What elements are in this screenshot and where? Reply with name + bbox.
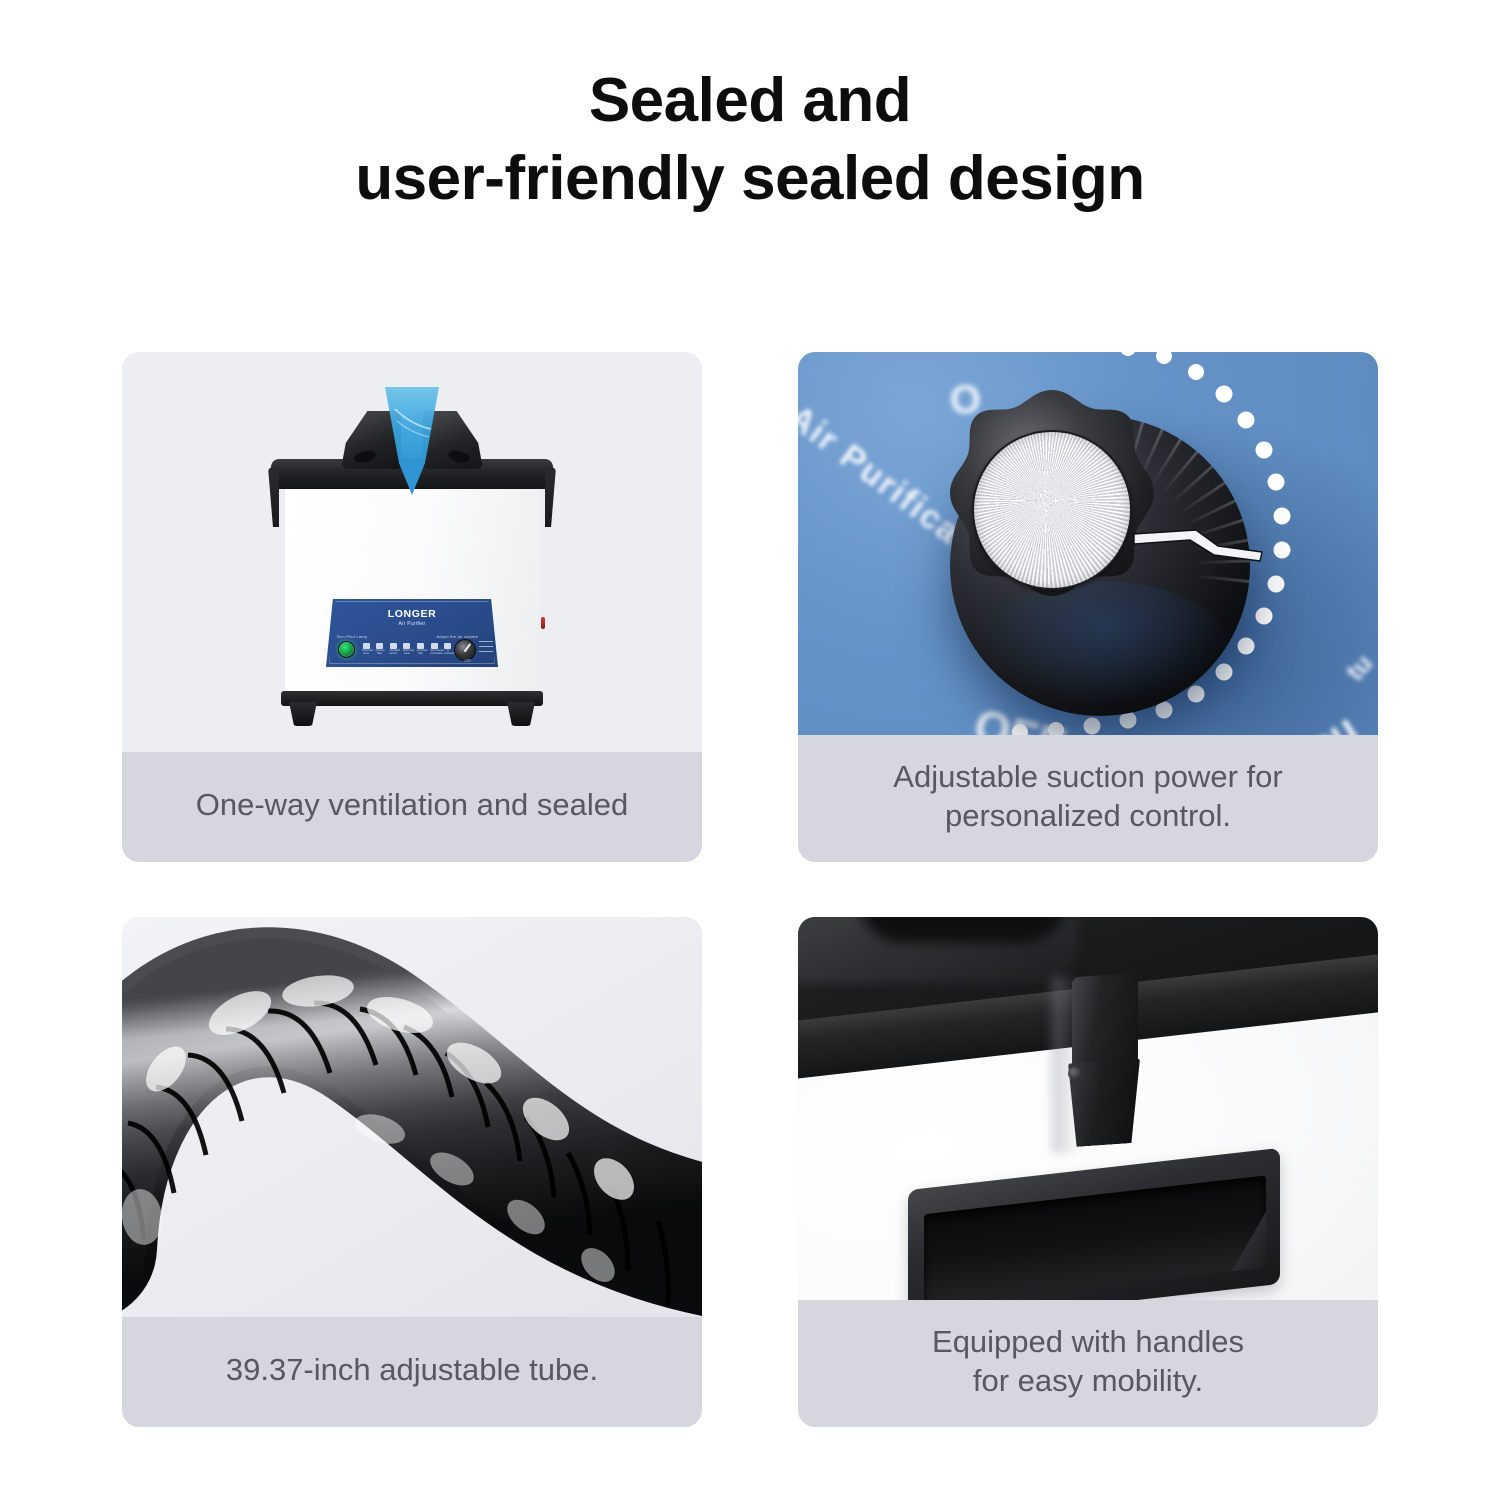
feature-card-adjustable-suction: Air Purification O OFF Cou tu — [798, 352, 1378, 862]
filter-indicator-label: Activated filter — [417, 650, 425, 656]
filter-indicator: Molecular sieve — [362, 643, 370, 656]
handle-recess-cavity — [924, 1175, 1266, 1299]
enclosure-lid-recessed-grip — [858, 917, 1068, 943]
filter-indicator: Molecular sieve — [403, 643, 411, 656]
card-media-knob-closeup: Air Purification O OFF Cou tu — [798, 352, 1378, 735]
latch-upper-arm — [1072, 973, 1138, 1074]
card-media-handle-latch — [798, 917, 1378, 1300]
filter-indicator: Air purification — [444, 643, 452, 656]
lid-latch[interactable] — [1066, 975, 1142, 1153]
panel-label-air-volume: Adjust the air volume — [436, 634, 478, 639]
page-title-line-1: Sealed and — [0, 62, 1500, 140]
filter-icon — [444, 643, 451, 649]
card-media-flexible-tube — [122, 917, 702, 1317]
filter-indicator: Electrostatic precipitator — [430, 643, 438, 656]
filter-icon — [390, 643, 397, 649]
unit-foot-right — [507, 702, 535, 726]
brand-subtitle: Air Purifier — [326, 621, 498, 627]
airflow-arrow-icon — [377, 387, 447, 507]
filter-icon — [417, 643, 424, 649]
filter-indicator-label: Activated carbon — [389, 650, 397, 656]
feature-card-grid: LONGER Air Purifier Run Pilot Lamp Adjus… — [122, 352, 1378, 1442]
corrugated-hose-illustration — [122, 917, 702, 1317]
control-panel: LONGER Air Purifier Run Pilot Lamp Adjus… — [326, 599, 498, 667]
latch-pivot-pin — [1068, 1067, 1081, 1080]
panel-label-run-lamp: Run Pilot Lamp — [337, 634, 367, 639]
card-media-air-purifier: LONGER Air Purifier Run Pilot Lamp Adjus… — [122, 352, 702, 752]
card-caption-text: 39.37-inch adjustable tube. — [226, 1350, 598, 1390]
filter-indicator: Activated filter — [417, 643, 425, 656]
filter-icon — [431, 643, 438, 649]
filter-indicator-label: Air purification — [444, 650, 452, 656]
unit-foot-left — [289, 702, 317, 726]
filter-indicator-label: Molecular sieve — [403, 650, 411, 656]
knob-scale-ticks — [479, 641, 493, 656]
card-caption-text: Equipped with handles for easy mobility. — [932, 1322, 1244, 1401]
page-title: Sealed and user-friendly sealed design — [0, 62, 1500, 217]
knob-panel-background: Air Purification O OFF Cou tu — [798, 352, 1378, 735]
filter-indicator-label: Medium filter — [376, 650, 384, 656]
knob-pointer-indicator-icon — [1132, 528, 1264, 562]
unit-base — [281, 691, 543, 706]
filter-indicator-row: Molecular sieve Medium filter Activated … — [362, 643, 452, 656]
feature-card-one-way-ventilation: LONGER Air Purifier Run Pilot Lamp Adjus… — [122, 352, 702, 862]
knob-off-label: OFF — [464, 659, 471, 663]
card-caption: 39.37-inch adjustable tube. — [122, 1317, 702, 1427]
knob-brushed-metal-cap — [972, 430, 1132, 590]
card-caption: One-way ventilation and sealed — [122, 752, 702, 862]
infographic-page: Sealed and user-friendly sealed design — [0, 0, 1500, 1500]
filter-icon — [403, 643, 410, 649]
filter-icon — [363, 643, 370, 649]
filter-indicator-label: Molecular sieve — [362, 650, 370, 656]
card-caption: Equipped with handles for easy mobility. — [798, 1300, 1378, 1427]
card-caption-text: Adjustable suction power for personalize… — [893, 757, 1282, 836]
feature-card-adjustable-tube: 39.37-inch adjustable tube. — [122, 917, 702, 1427]
filter-indicator: Activated carbon — [389, 643, 397, 656]
card-caption: Adjustable suction power for personalize… — [798, 735, 1378, 862]
airflow-knob[interactable] — [454, 639, 476, 661]
filter-indicator-label: Electrostatic precipitator — [430, 650, 438, 656]
unit-side-indicator — [541, 617, 545, 629]
card-caption-text: One-way ventilation and sealed — [196, 785, 629, 825]
brand-logo: LONGER — [326, 608, 498, 620]
air-purifier-unit: LONGER Air Purifier Run Pilot Lamp Adjus… — [267, 403, 557, 733]
filter-indicator: Medium filter — [376, 643, 384, 656]
tube-scene — [122, 917, 702, 1317]
page-title-line-2: user-friendly sealed design — [0, 140, 1500, 218]
filter-icon — [376, 643, 383, 649]
handle-scene — [798, 917, 1378, 1300]
feature-card-handles-mobility: Equipped with handles for easy mobility. — [798, 917, 1378, 1427]
power-button[interactable] — [338, 641, 355, 658]
suction-power-knob[interactable] — [926, 386, 1256, 716]
